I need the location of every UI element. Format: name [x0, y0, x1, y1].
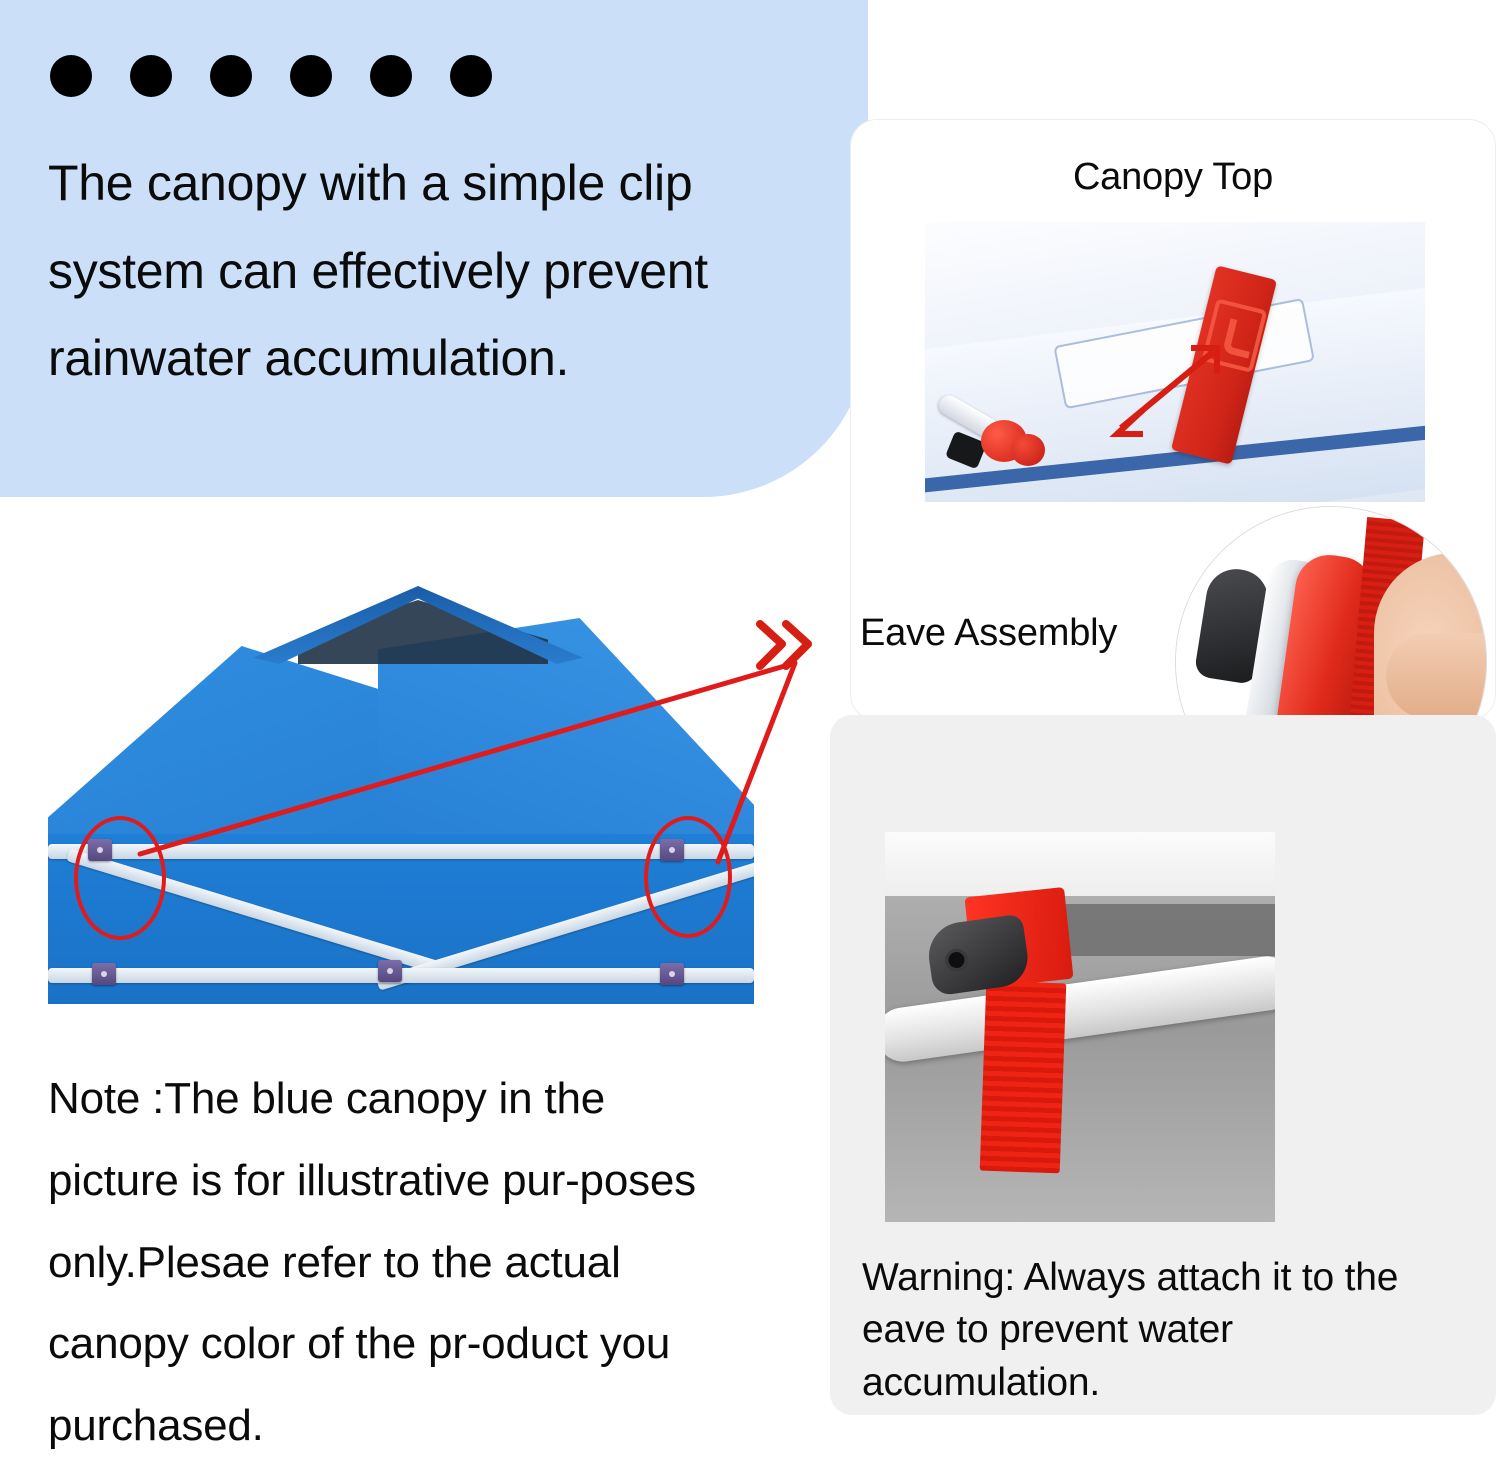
chevron-double-right-icon — [756, 618, 826, 678]
headline-text: The canopy with a simple clip system can… — [48, 140, 848, 403]
bullet-dot-icon — [210, 55, 252, 97]
canopy-clip-icon — [378, 960, 402, 982]
bullet-dot-icon — [50, 55, 92, 97]
canopy-top-photo — [925, 222, 1425, 502]
eave-strap-photo — [885, 832, 1275, 1222]
bullet-dot-icon — [450, 55, 492, 97]
blue-canopy-photo — [48, 548, 754, 1004]
highlight-circle-right — [644, 816, 732, 938]
fabric-shadow-band — [1035, 904, 1275, 956]
thumb — [1386, 633, 1487, 719]
bullet-dot-icon — [130, 55, 172, 97]
note-text: Note :The blue canopy in the picture is … — [48, 1058, 738, 1467]
warning-text: Warning: Always attach it to the eave to… — [862, 1252, 1462, 1409]
canopy-clip-icon — [92, 963, 116, 985]
eave-assembly-label: Eave Assembly — [860, 612, 1190, 655]
canopy-top-edge — [885, 832, 1275, 906]
bullet-dot-icon — [370, 55, 412, 97]
highlight-circle-left — [74, 816, 166, 940]
bullet-dot-icon — [290, 55, 332, 97]
red-strap-hanging — [980, 981, 1067, 1174]
canopy-top-label: Canopy Top — [851, 156, 1495, 199]
canopy-clip-icon — [660, 963, 684, 985]
dot-row — [50, 55, 492, 97]
double-headed-arrow-icon — [925, 222, 1425, 502]
